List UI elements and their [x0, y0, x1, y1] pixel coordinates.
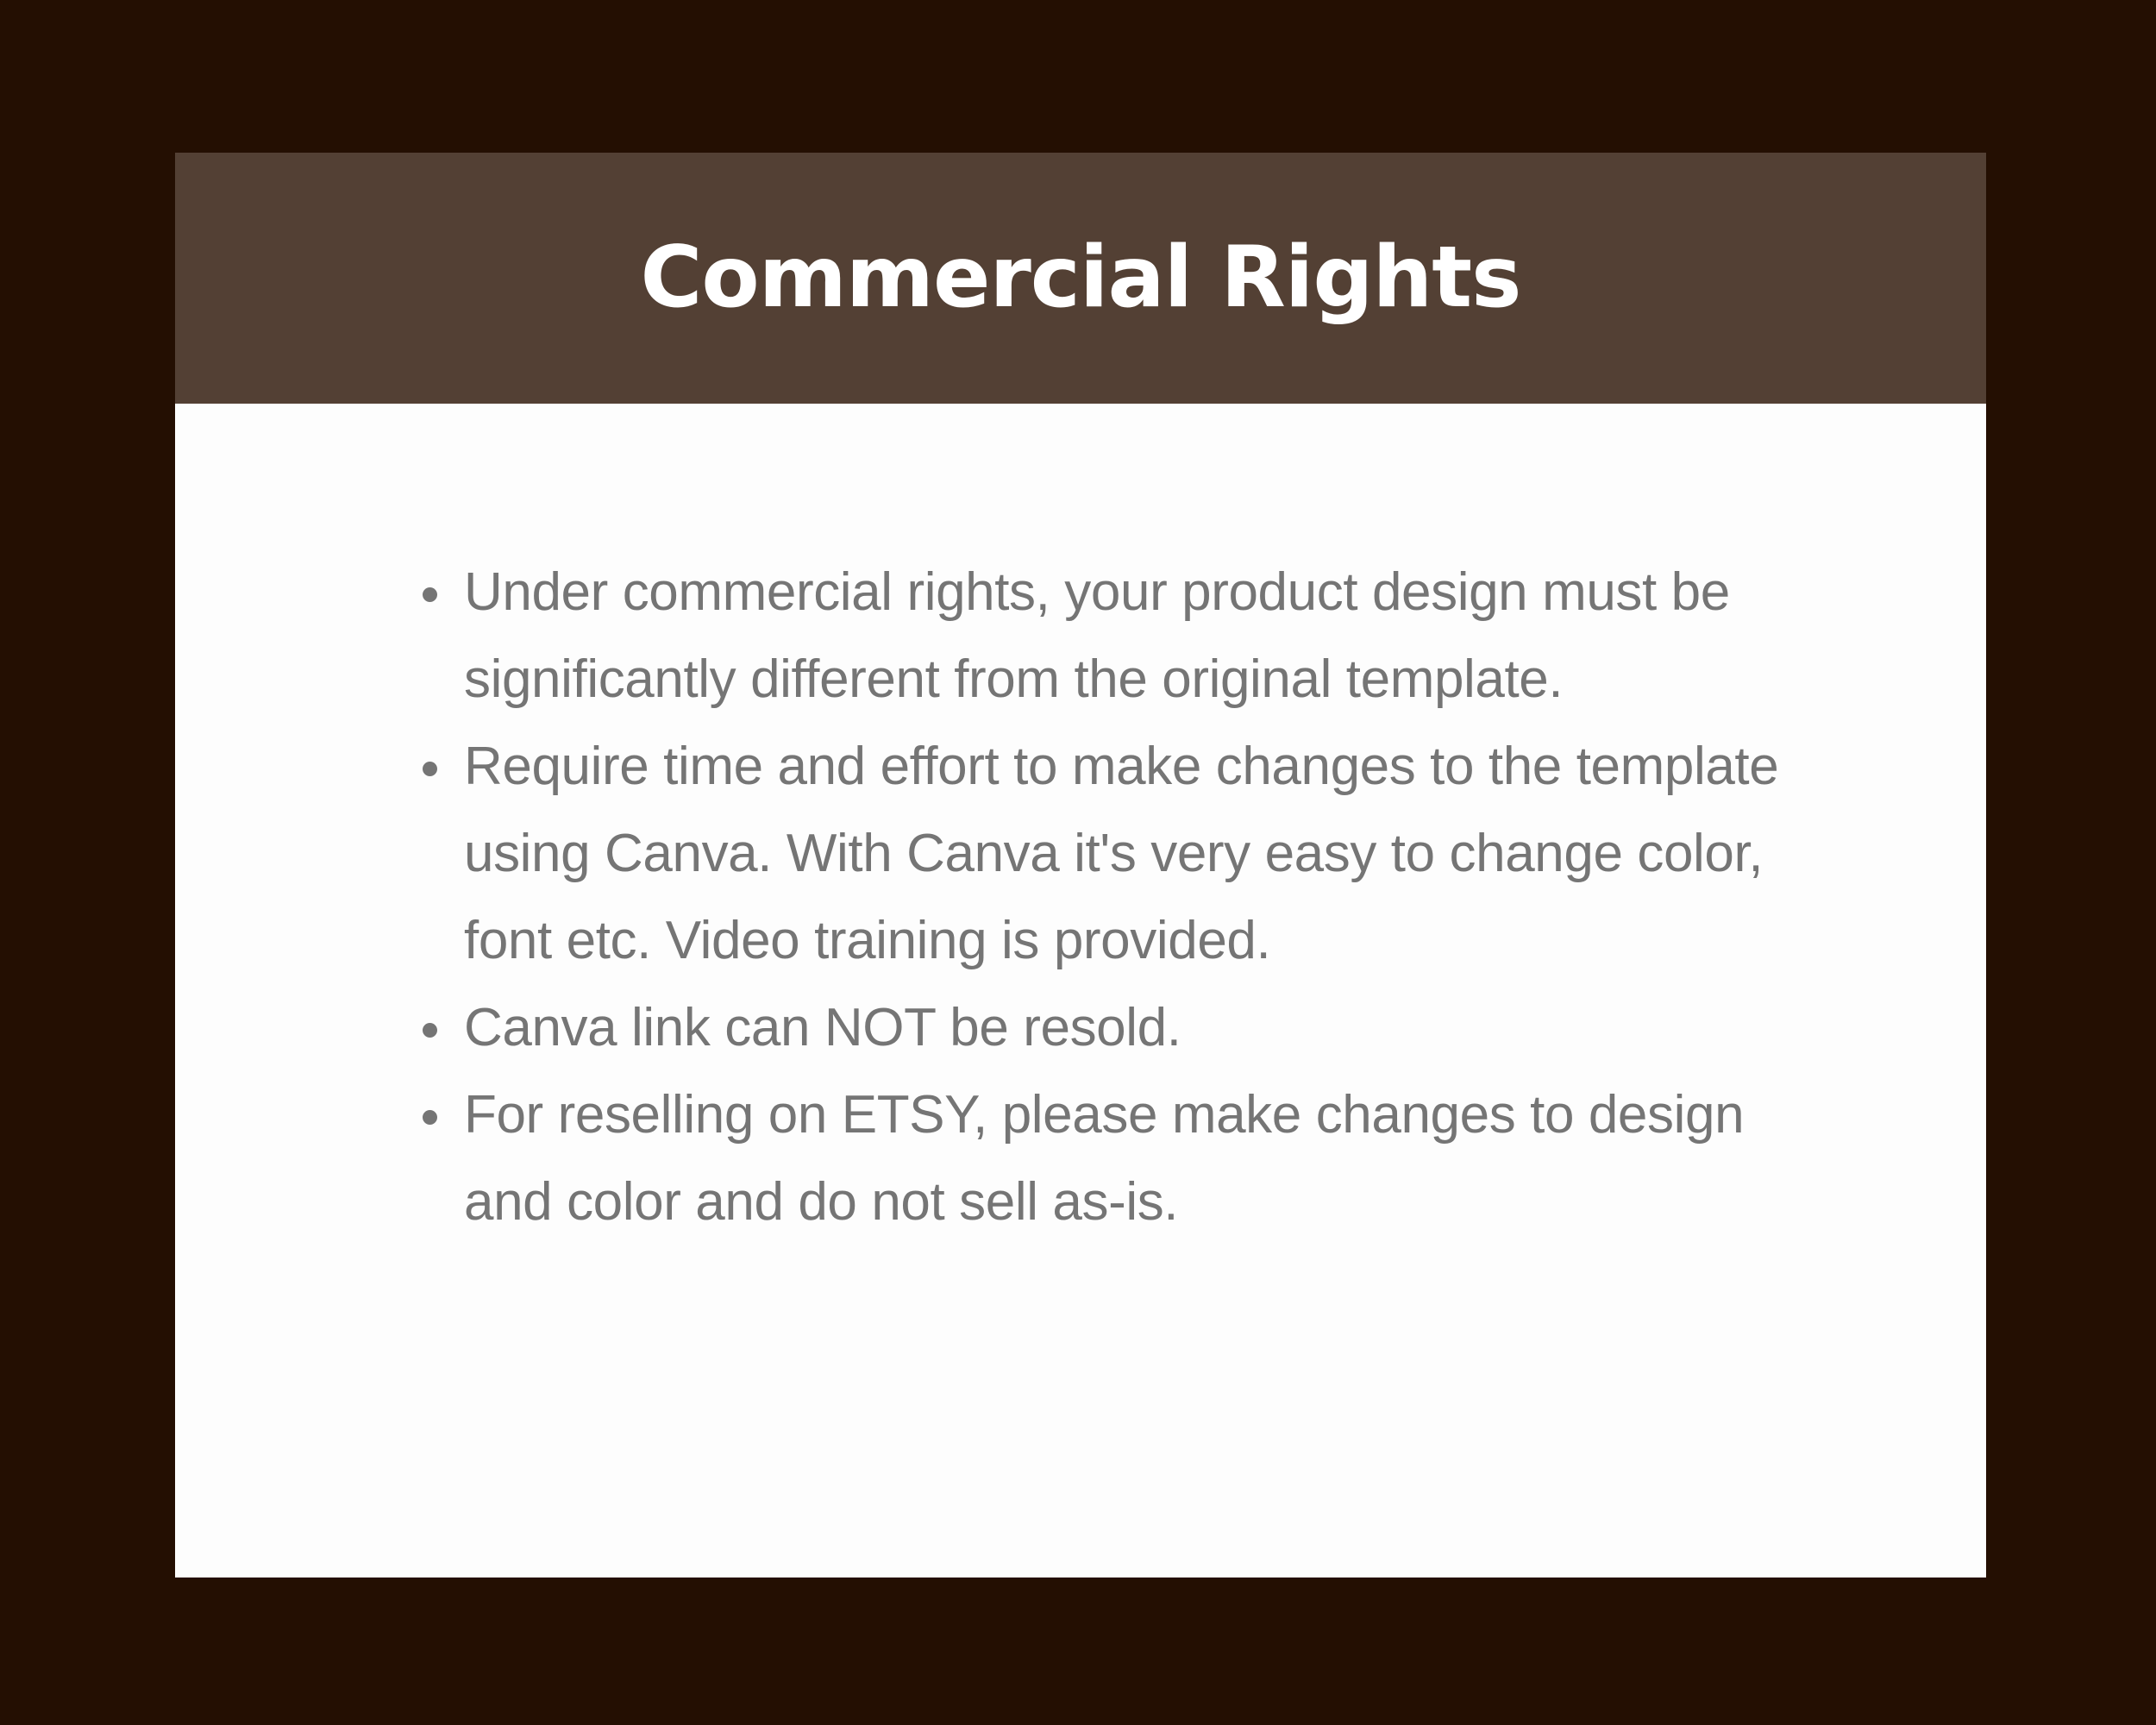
card-body: Under commercial rights, your product de… — [175, 404, 1986, 1578]
bullet-list: Under commercial rights, your product de… — [423, 549, 1839, 1245]
commercial-rights-card: Commercial Rights Under commercial right… — [175, 153, 1986, 1578]
list-item: Under commercial rights, your product de… — [423, 549, 1792, 723]
slide-canvas: Commercial Rights Under commercial right… — [0, 0, 2156, 1725]
list-item: Canva link can NOT be resold. — [423, 984, 1792, 1071]
list-item: Require time and effort to make changes … — [423, 723, 1792, 984]
list-item: For reselling on ETSY, please make chang… — [423, 1071, 1792, 1245]
page-title: Commercial Rights — [641, 234, 1521, 323]
card-header: Commercial Rights — [175, 153, 1986, 404]
